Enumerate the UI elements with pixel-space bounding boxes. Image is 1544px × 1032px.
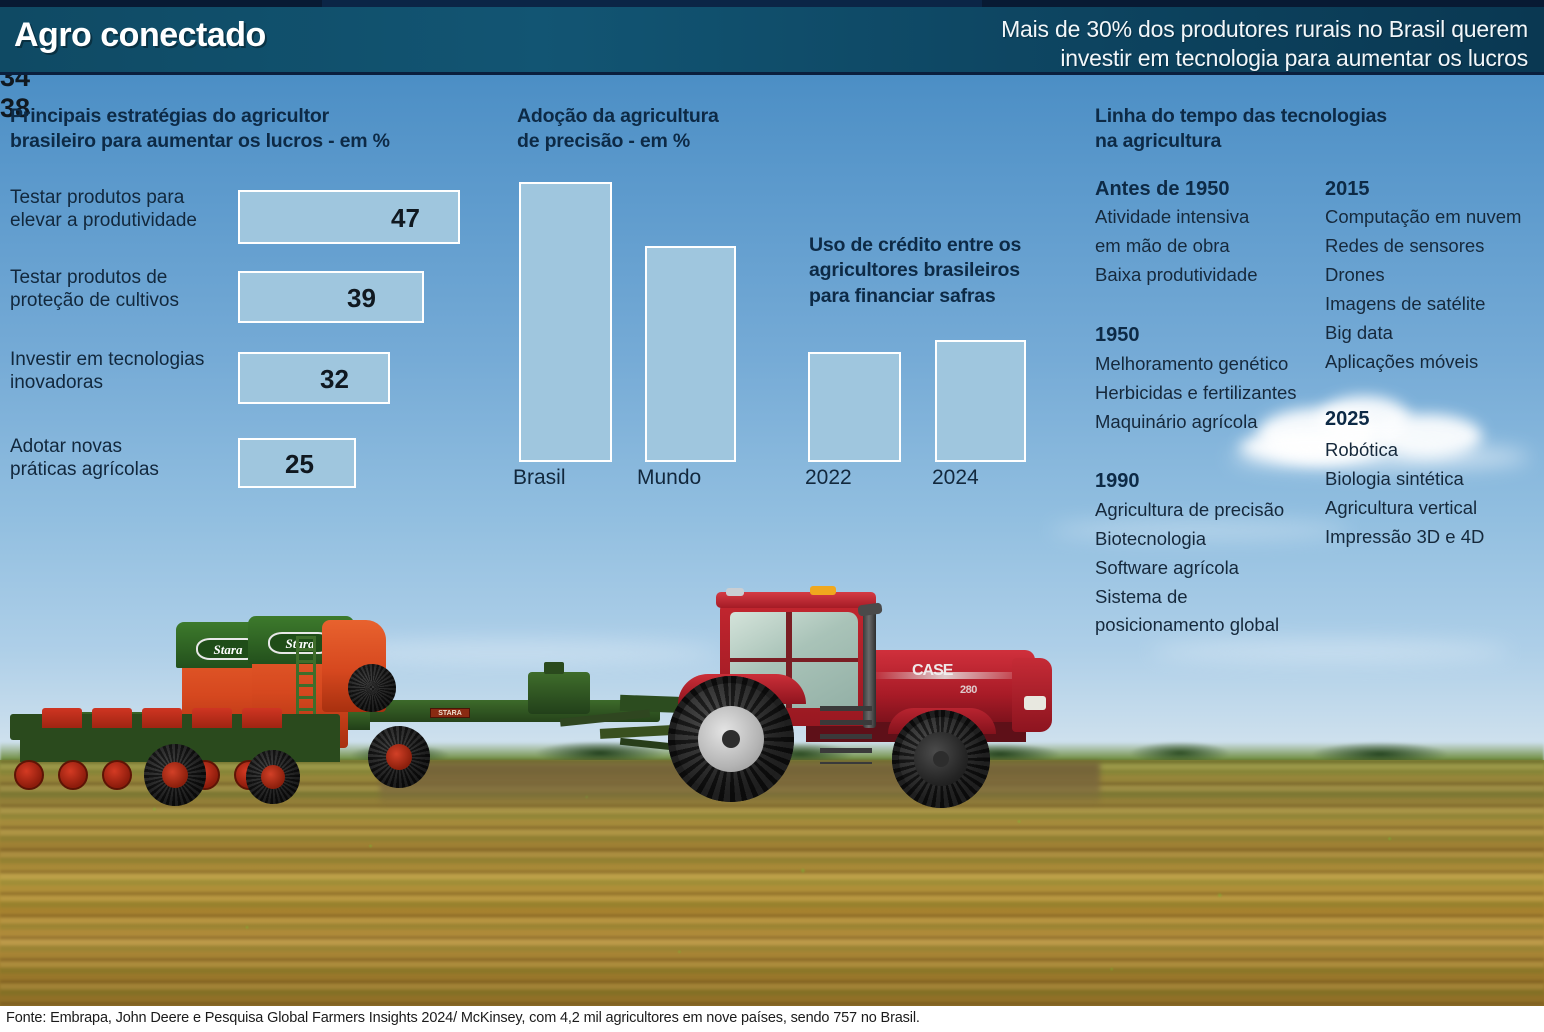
top-accent-strip [0, 0, 1544, 7]
timeline-item: posicionamento global [1095, 616, 1279, 635]
timeline-item: Computação em nuvem [1325, 208, 1521, 227]
timeline-item: Biologia sintética [1325, 470, 1464, 489]
page-title: Agro conectado [14, 16, 266, 55]
strategy-label-1-line-2: proteção de cultivos [10, 289, 235, 312]
strategy-label-0-line-2: elevar a produtividade [10, 209, 235, 232]
credit-bar-2022 [808, 352, 901, 462]
credit-title-line-2: agricultores brasileiros [809, 258, 1059, 283]
timeline-item: Maquinário agrícola [1095, 413, 1257, 432]
strategy-bar-0 [238, 190, 460, 244]
timeline-item: Atividade intensiva [1095, 208, 1249, 227]
timeline-era-2015: 2015 [1325, 178, 1370, 201]
strategy-label-2: Investir em tecnologias inovadoras [10, 348, 242, 394]
credit-title-line-3: para financiar safras [809, 284, 1059, 309]
timeline-item: Drones [1325, 266, 1385, 285]
strategy-label-2-line-2: inovadoras [10, 371, 242, 394]
strategy-label-0-line-1: Testar produtos para [10, 186, 235, 209]
timeline-item: Redes de sensores [1325, 237, 1484, 256]
strategies-title: Principais estratégias do agricultor bra… [10, 104, 480, 155]
timeline-item: Agricultura de precisão [1095, 501, 1284, 520]
strategy-bar-1 [238, 271, 424, 323]
precision-axis-label-mundo: Mundo [637, 466, 701, 490]
infographic-page: STARA Stara Stara [0, 0, 1544, 1032]
infographic-overlay: Agro conectado Mais de 30% dos produtore… [0, 0, 1544, 1032]
strategy-value-0: 47 [391, 203, 420, 234]
strategy-label-3-line-2: práticas agrícolas [10, 458, 235, 481]
header-subtitle-line-2: investir em tecnologia para aumentar os … [828, 44, 1528, 73]
timeline-title-line-2: na agricultura [1095, 129, 1495, 154]
strategy-value-2: 32 [320, 364, 349, 395]
credit-title-line-1: Uso de crédito entre os [809, 233, 1059, 258]
strategy-label-2-line-1: Investir em tecnologias [10, 348, 242, 371]
timeline-title: Linha do tempo das tecnologias na agricu… [1095, 104, 1495, 155]
timeline-era-1990: 1990 [1095, 470, 1140, 493]
timeline-item: Herbicidas e fertilizantes [1095, 384, 1297, 403]
timeline-era-2025: 2025 [1325, 408, 1370, 431]
precision-bar-mundo [645, 246, 736, 462]
header-bar: Agro conectado Mais de 30% dos produtore… [0, 7, 1544, 75]
precision-title-line-2: de precisão - em % [517, 129, 787, 154]
credit-title: Uso de crédito entre os agricultores bra… [809, 233, 1059, 309]
timeline-item: Melhoramento genético [1095, 355, 1288, 374]
strategies-title-line-2: brasileiro para aumentar os lucros - em … [10, 129, 480, 154]
footer-bar: Fonte: Embrapa, John Deere e Pesquisa Gl… [0, 1006, 1544, 1032]
timeline-item: Impressão 3D e 4D [1325, 528, 1484, 547]
timeline-item: Sistema de [1095, 588, 1188, 607]
strategy-value-1: 39 [347, 283, 376, 314]
timeline-item: Aplicações móveis [1325, 353, 1478, 372]
strategy-label-1: Testar produtos de proteção de cultivos [10, 266, 235, 312]
strategy-bar-2 [238, 352, 390, 404]
timeline-era-antes-de-1950: Antes de 1950 [1095, 178, 1230, 201]
precision-title-line-1: Adoção da agricultura [517, 104, 787, 129]
strategy-label-1-line-1: Testar produtos de [10, 266, 235, 289]
credit-axis-label-2024: 2024 [932, 466, 979, 490]
strategy-value-3: 25 [285, 449, 314, 480]
timeline-era-1950: 1950 [1095, 324, 1140, 347]
header-subtitle: Mais de 30% dos produtores rurais no Bra… [828, 15, 1528, 74]
timeline-item: Biotecnologia [1095, 530, 1206, 549]
header-subtitle-line-1: Mais de 30% dos produtores rurais no Bra… [828, 15, 1528, 44]
strategies-title-line-1: Principais estratégias do agricultor [10, 104, 480, 129]
precision-title: Adoção da agricultura de precisão - em % [517, 104, 787, 155]
timeline-item: Imagens de satélite [1325, 295, 1485, 314]
strategy-label-3: Adotar novas práticas agrícolas [10, 435, 235, 481]
timeline-item: Big data [1325, 324, 1393, 343]
strategy-label-3-line-1: Adotar novas [10, 435, 235, 458]
timeline-item: Baixa produtividade [1095, 266, 1258, 285]
strategy-label-0: Testar produtos para elevar a produtivid… [10, 186, 235, 232]
timeline-item: em mão de obra [1095, 237, 1230, 256]
source-note: Fonte: Embrapa, John Deere e Pesquisa Gl… [6, 1010, 920, 1026]
timeline-item: Agricultura vertical [1325, 499, 1477, 518]
timeline-item: Robótica [1325, 441, 1398, 460]
timeline-title-line-1: Linha do tempo das tecnologias [1095, 104, 1495, 129]
precision-bar-brasil [519, 182, 612, 462]
top-accent-segment [322, 0, 982, 7]
credit-axis-label-2022: 2022 [805, 466, 852, 490]
credit-bar-2024 [935, 340, 1026, 462]
timeline-item: Software agrícola [1095, 559, 1239, 578]
precision-axis-label-brasil: Brasil [513, 466, 566, 490]
